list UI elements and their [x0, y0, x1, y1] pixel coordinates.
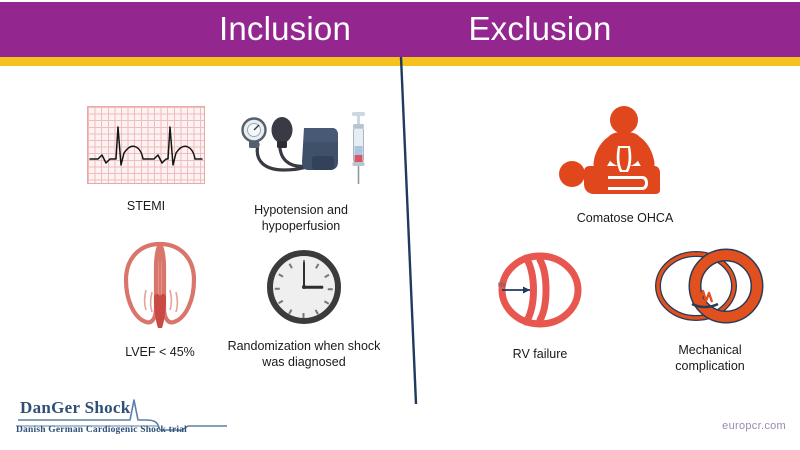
item-comatose-ohca: Comatose OHCA — [550, 104, 700, 226]
page-title-exclusion: Exclusion — [420, 8, 660, 50]
caption-rv-failure: RV failure — [478, 346, 602, 362]
logo-wordmark: DanGer Shock — [20, 398, 131, 418]
heart-cross-section-icon — [100, 238, 220, 330]
page-title-inclusion: Inclusion — [175, 8, 395, 50]
caption-lvef: LVEF < 45% — [100, 344, 220, 360]
item-stemi: STEMI — [78, 106, 214, 214]
slide-canvas: Inclusion Exclusion STEMI — [0, 0, 800, 450]
item-mechanical-complication: Mechanical complication — [640, 244, 780, 374]
ecg-strip-icon — [87, 106, 205, 184]
clock-minute-hand — [303, 262, 305, 287]
item-lvef: LVEF < 45% — [100, 238, 220, 360]
europcr-url: europcr.com — [722, 420, 786, 432]
gold-accent-stripe — [0, 57, 800, 66]
caption-mechanical-line1: Mechanical — [640, 342, 780, 358]
caption-stemi: STEMI — [78, 198, 214, 214]
item-hypotension: Hypotension and hypoperfusion — [228, 104, 374, 234]
clock-center-pin — [302, 285, 306, 289]
heart-short-axis-rv-icon: RV — [478, 250, 602, 330]
header-band — [0, 2, 800, 57]
ruptured-heart-rings-icon — [640, 244, 780, 330]
caption-mechanical-line2: complication — [640, 358, 780, 374]
logo-tagline: Danish German Cardiogenic Shock trial — [16, 425, 187, 435]
item-randomization: Randomization when shock was diagnosed — [222, 250, 386, 370]
item-rv-failure: RV RV failure — [478, 250, 602, 362]
caption-randomization-line1: Randomization when shock — [222, 338, 386, 354]
clock-icon — [267, 250, 341, 324]
caption-hypotension-line2: hypoperfusion — [228, 218, 374, 234]
cpr-resuscitation-icon — [550, 104, 700, 196]
caption-hypotension-line1: Hypotension and — [228, 202, 374, 218]
danger-shock-logo: DanGer Shock Danish German Cardiogenic S… — [12, 396, 227, 444]
caption-comatose-ohca: Comatose OHCA — [550, 210, 700, 226]
blood-pressure-cuff-and-syringe-icon — [228, 104, 374, 190]
clock-hour-hand — [304, 286, 323, 289]
rv-arrow-label: RV — [498, 283, 506, 289]
caption-randomization-line2: was diagnosed — [222, 354, 386, 370]
